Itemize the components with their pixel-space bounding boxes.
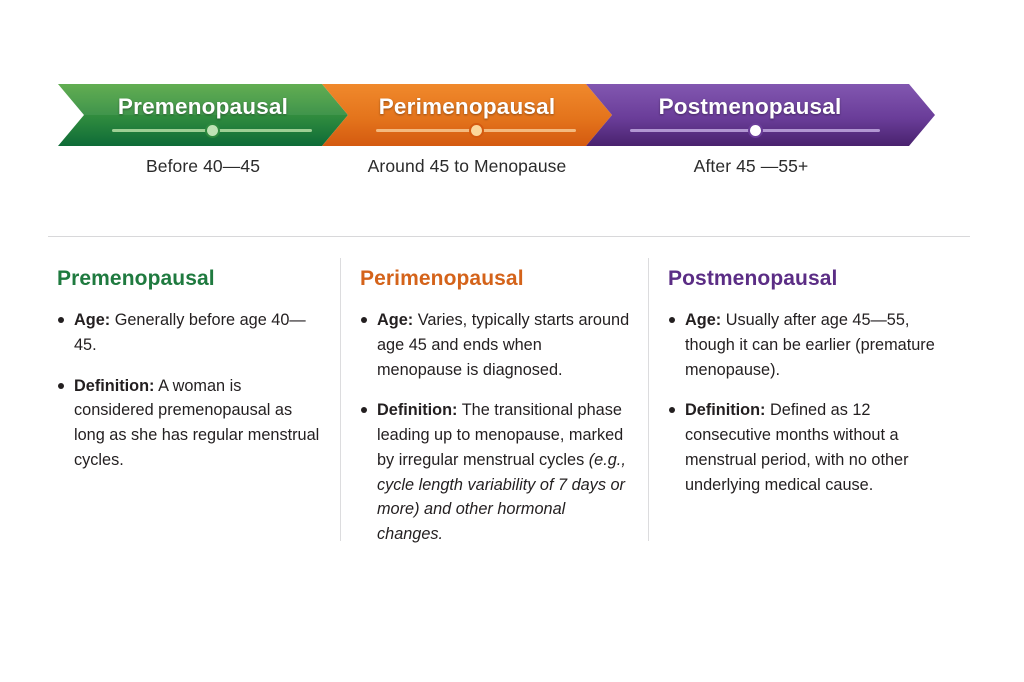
band-dot-premenopausal — [205, 123, 220, 138]
column-title-premenopausal: Premenopausal — [57, 267, 325, 290]
band-shape-perimenopausal — [322, 84, 614, 148]
list-item: Age: Usually after age 45—55, though it … — [668, 308, 946, 382]
list-item: Definition: Defined as 12 consecutive mo… — [668, 398, 946, 497]
detail-column-premenopausal: Premenopausal Age: Generally before age … — [57, 267, 325, 489]
bullet-term: Definition: — [685, 401, 765, 419]
bullet-text: Usually after age 45—55, though it can b… — [685, 311, 935, 379]
list-item: Age: Varies, typically starts around age… — [360, 308, 630, 382]
timeline-band-perimenopausal[interactable]: Perimenopausal — [322, 84, 612, 146]
band-dot-perimenopausal — [469, 123, 484, 138]
list-item: Definition: The transitional phase leadi… — [360, 398, 630, 547]
detail-column-perimenopausal: Perimenopausal Age: Varies, typically st… — [360, 267, 630, 563]
bullet-term: Definition: — [377, 401, 457, 419]
bullet-list-perimenopausal: Age: Varies, typically starts around age… — [360, 308, 630, 547]
bullet-term: Age: — [685, 311, 721, 329]
timeline-band-postmenopausal[interactable]: Postmenopausal — [586, 84, 936, 146]
band-shape-premenopausal — [58, 84, 350, 148]
bullet-term: Definition: — [74, 377, 154, 395]
horizontal-divider — [48, 236, 970, 237]
stage-timeline: Premenopausal Perimenopausal — [0, 0, 1024, 200]
column-title-perimenopausal: Perimenopausal — [360, 267, 630, 290]
column-divider-left — [340, 258, 341, 541]
bullet-list-postmenopausal: Age: Usually after age 45—55, though it … — [668, 308, 946, 497]
band-dot-postmenopausal — [748, 123, 763, 138]
list-item: Definition: A woman is considered premen… — [57, 374, 325, 473]
timeline-band-premenopausal[interactable]: Premenopausal — [58, 84, 348, 146]
list-item: Age: Generally before age 40—45. — [57, 308, 325, 358]
detail-column-postmenopausal: Postmenopausal Age: Usually after age 45… — [668, 267, 946, 513]
stage-caption-postmenopausal: After 45 —55+ — [586, 156, 916, 177]
band-shape-postmenopausal — [586, 84, 938, 148]
bullet-text: Varies, typically starts around age 45 a… — [377, 311, 629, 379]
bullet-list-premenopausal: Age: Generally before age 40—45. Definit… — [57, 308, 325, 473]
bullet-term: Age: — [377, 311, 413, 329]
stage-caption-perimenopausal: Around 45 to Menopause — [322, 156, 612, 177]
column-divider-right — [648, 258, 649, 541]
column-title-postmenopausal: Postmenopausal — [668, 267, 946, 290]
bullet-term: Age: — [74, 311, 110, 329]
stage-caption-premenopausal: Before 40—45 — [58, 156, 348, 177]
